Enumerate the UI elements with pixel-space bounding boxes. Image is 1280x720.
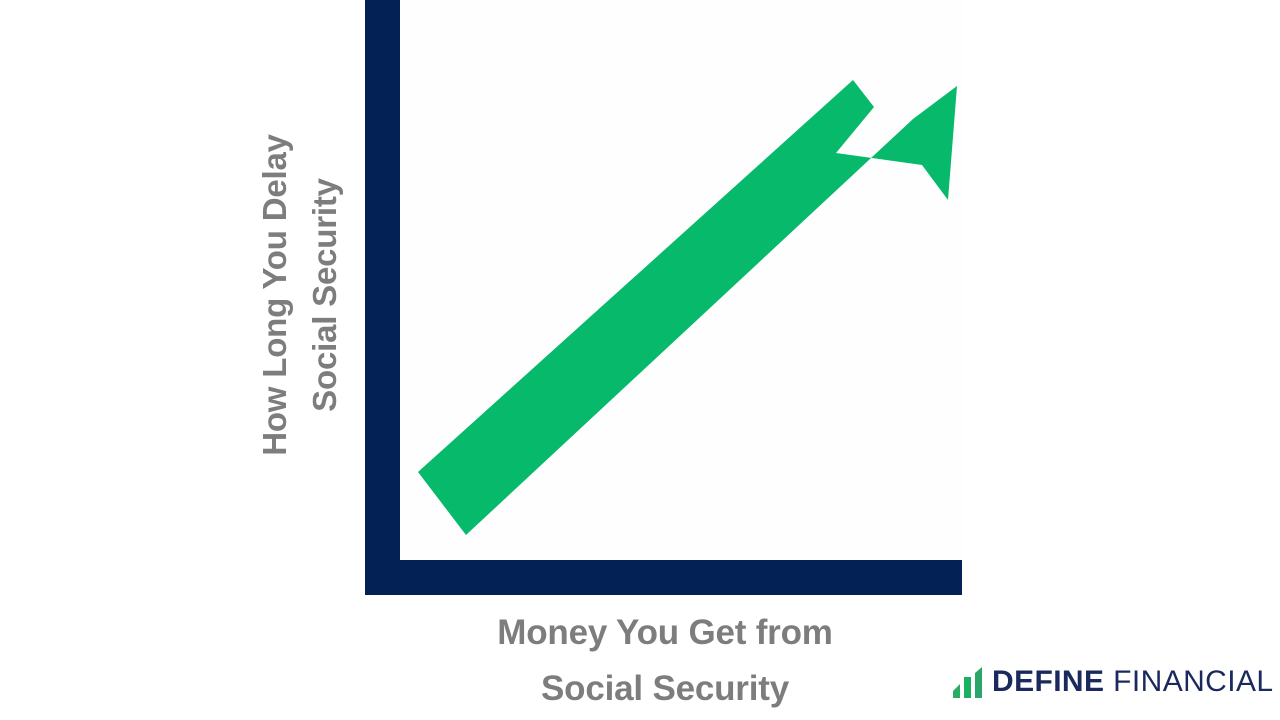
x-axis-label-line-1: Money You Get from (365, 605, 965, 661)
logo-text: DEFINE FINANCIAL (992, 667, 1273, 697)
logo-word-define: DEFINE (992, 665, 1104, 698)
y-axis-label-line-2: Social Security (305, 0, 345, 595)
y-axis-label-line-1: How Long You Delay (255, 0, 295, 595)
x-axis-label: Money You Get from Social Security (365, 605, 965, 717)
y-axis-label: How Long You Delay Social Security (0, 0, 360, 595)
logo-word-financial: FINANCIAL (1113, 665, 1273, 698)
define-financial-logo: DEFINE FINANCIAL (953, 660, 1273, 704)
x-axis-label-line-2: Social Security (365, 661, 965, 717)
bar-chart-icon (953, 667, 983, 698)
slide-canvas: How Long You Delay Social Security Money… (0, 0, 1280, 720)
y-axis-bar (365, 0, 400, 595)
logo-word-separator (1104, 665, 1113, 698)
x-axis-bar (365, 560, 962, 595)
plot-area (400, 0, 962, 560)
